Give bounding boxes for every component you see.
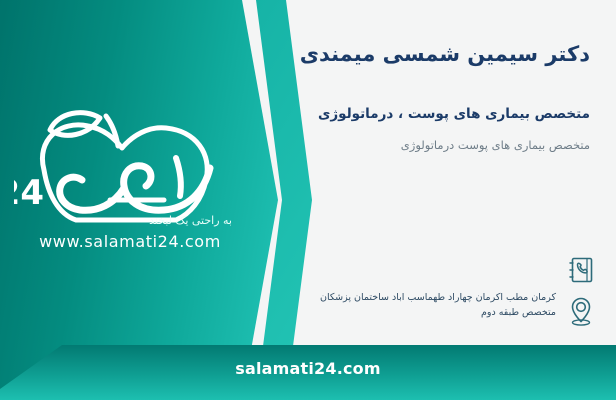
logo-script-stroke-3	[176, 158, 181, 196]
apple-stem	[106, 116, 118, 146]
footer-bar: salamati24.com	[0, 345, 616, 400]
business-card: 24 به راحتی یک لبخند www.salamati24.com …	[0, 0, 616, 400]
logo-tagline: به راحتی یک لبخند	[149, 214, 232, 227]
clinic-address: کرمان مطب اکرمان چهاراد طهماسب اباد ساخت…	[316, 291, 556, 320]
logo-script-stroke-2	[60, 177, 124, 210]
footer-website-url[interactable]: salamati24.com	[0, 359, 616, 378]
doctor-specialty-sub: متخصص بیماری های پوست درماتولوژی	[401, 138, 590, 152]
card-content: دکتر سیمین شمسی میمندی متخصص بیماری های …	[286, 0, 616, 345]
address-line-1: کرمان مطب اکرمان چهاراد طهماسب اباد ساخت…	[320, 292, 556, 303]
doctor-name: دکتر سیمین شمسی میمندی	[300, 42, 590, 66]
doctor-specialty-main: متخصص بیماری های پوست ، درماتولوژی	[318, 106, 590, 122]
salamati24-logo: 24 به راحتی یک لبخند www.salamati24.com	[14, 96, 246, 268]
address-line-2: متخصص طبقه دوم	[316, 306, 556, 321]
phonebook-icon[interactable]	[568, 256, 594, 284]
logo-url: www.salamati24.com	[14, 232, 246, 251]
logo-badge-24: 24	[14, 173, 44, 213]
location-pin-icon[interactable]	[568, 296, 594, 326]
